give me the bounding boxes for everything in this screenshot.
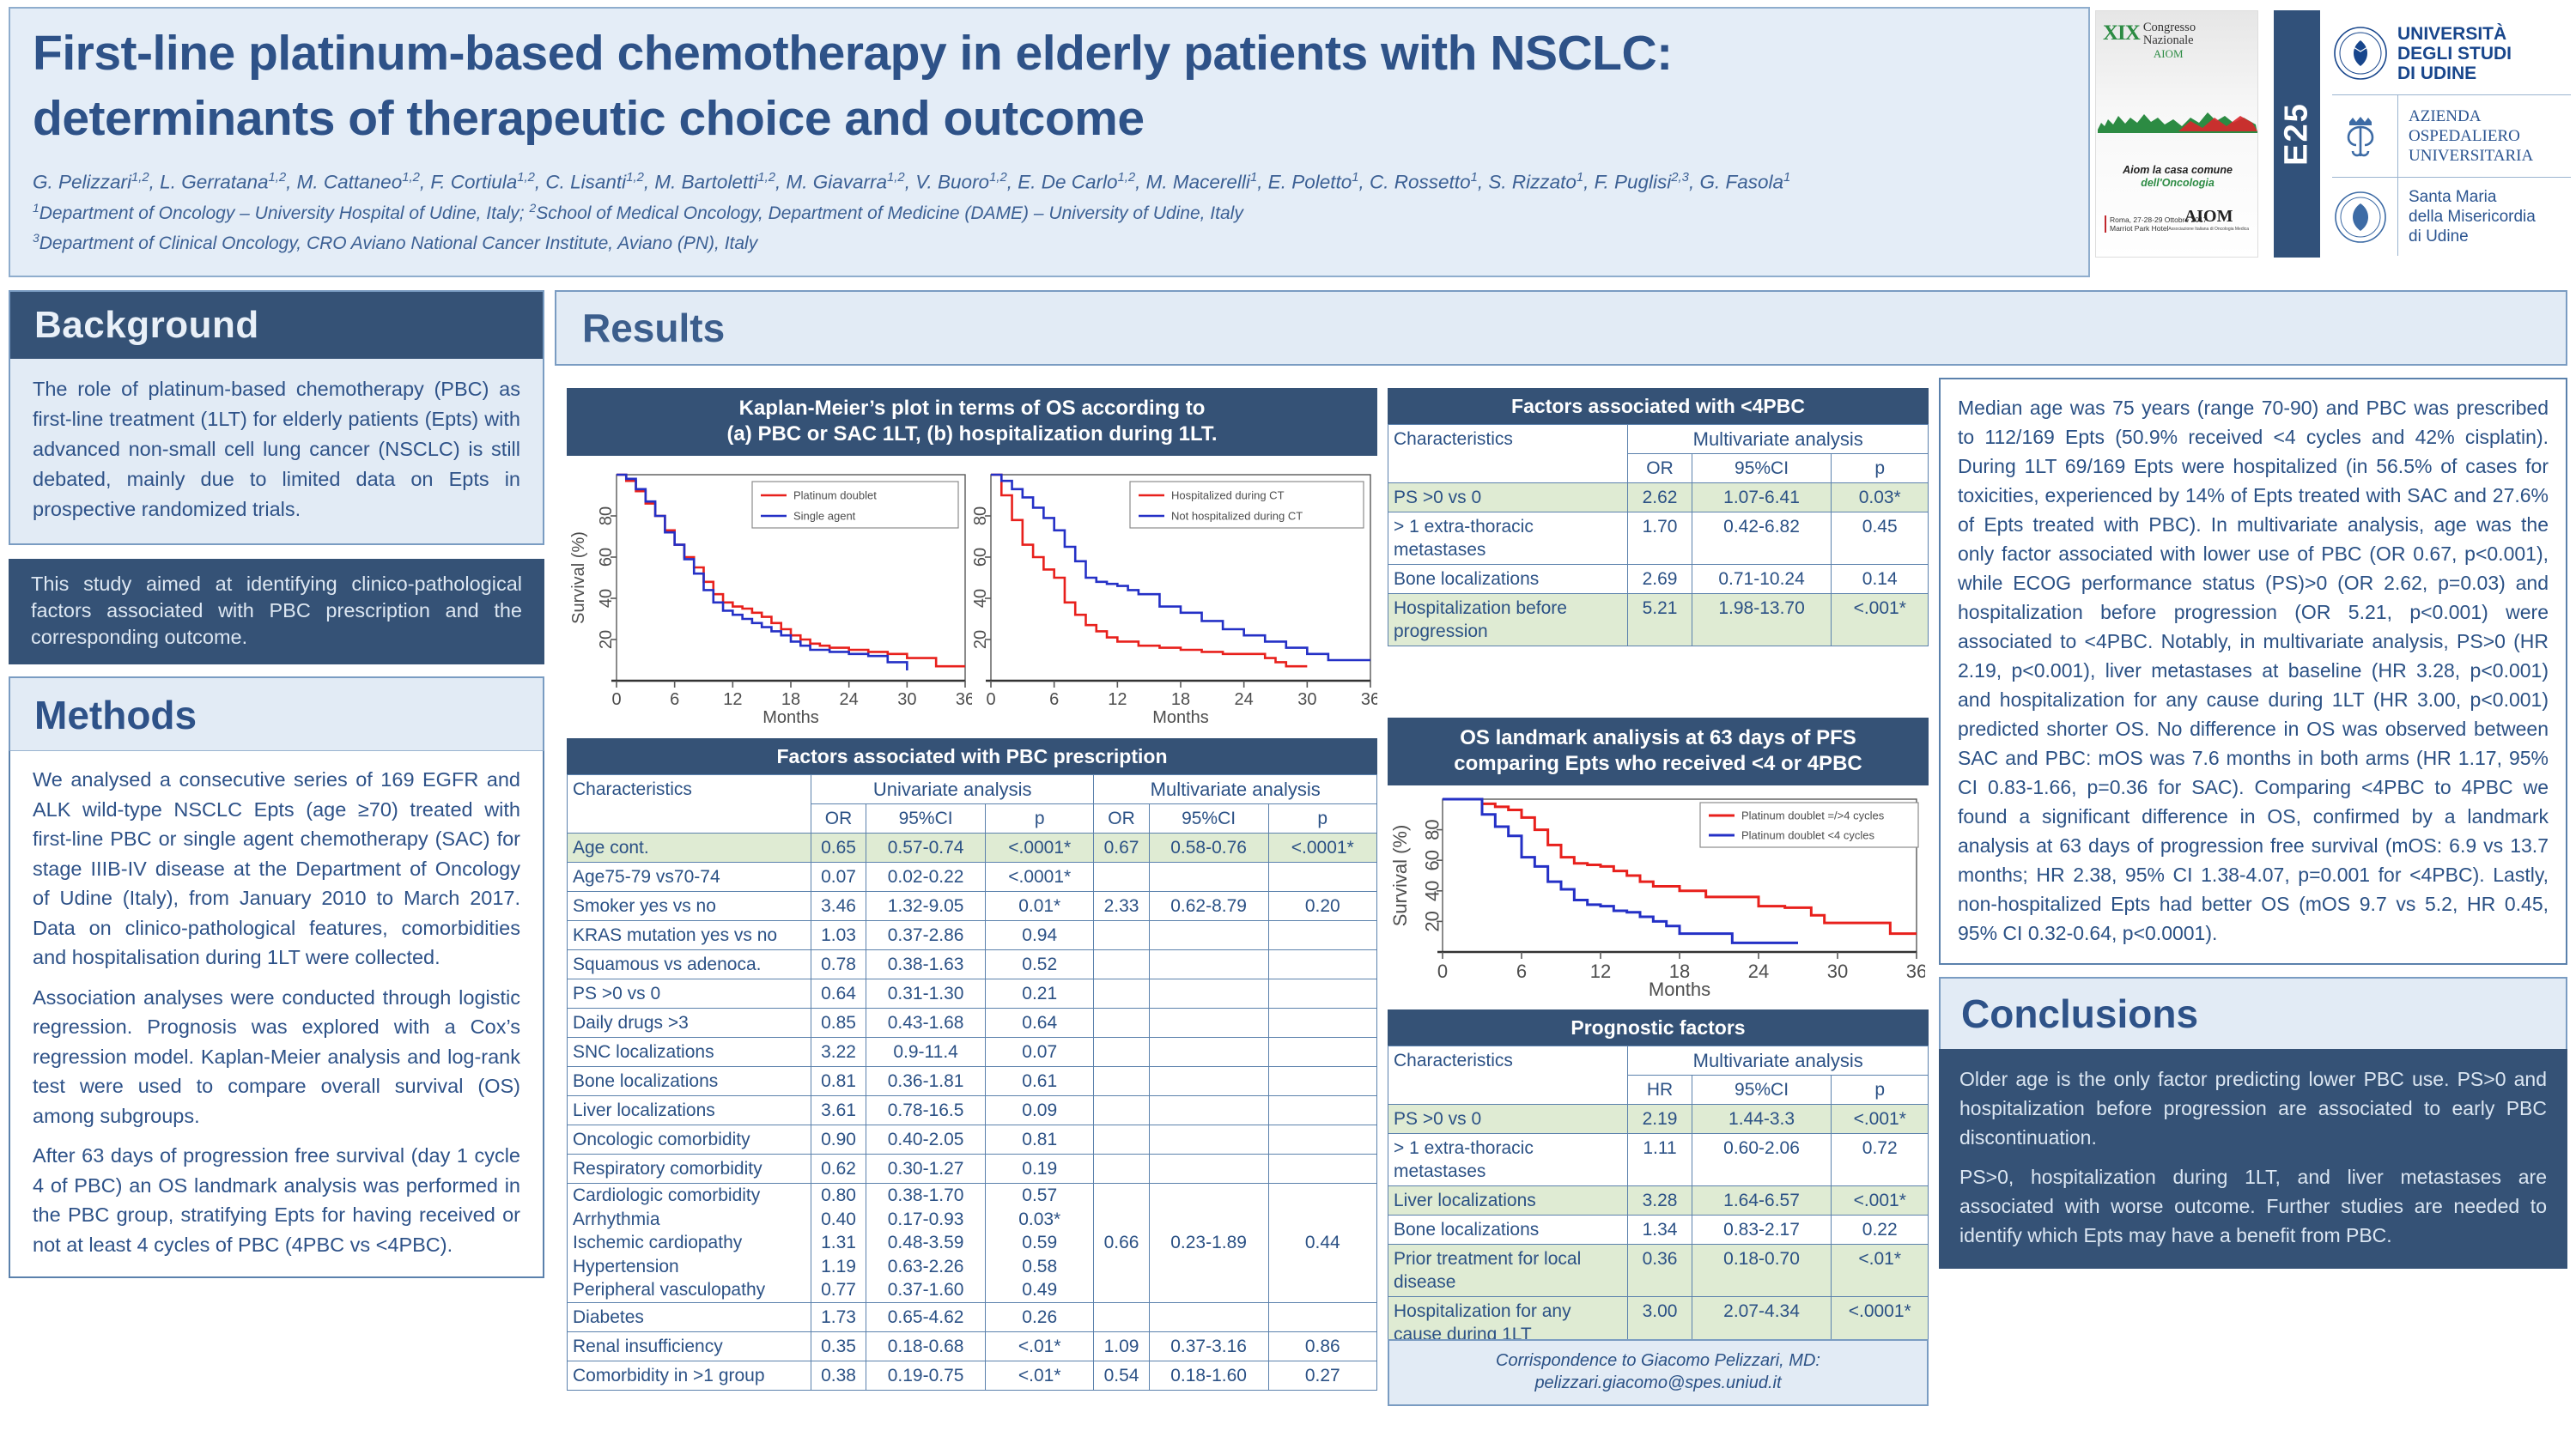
- row-value: [1268, 1125, 1376, 1155]
- row-value: 0.45: [1832, 512, 1929, 565]
- congress-logo: XIX Congresso Nazionale AIOM Aiom la cas…: [2095, 10, 2258, 258]
- row-value: 1.07-6.41: [1692, 483, 1832, 512]
- row-value: 0.37-3.16: [1149, 1331, 1268, 1361]
- row-value: 0.58: [986, 1255, 1094, 1279]
- chart-os-landmark-4pbc: 20406080061218243036MonthsSurvival (%)Pl…: [1388, 791, 1925, 998]
- row-value: 0.71-10.24: [1692, 565, 1832, 594]
- row-label: Hypertension: [568, 1255, 811, 1279]
- row-value: [1094, 921, 1149, 950]
- row-value: [1094, 1038, 1149, 1067]
- svg-text:Months: Months: [1152, 708, 1209, 725]
- row-value: 0.78-16.5: [866, 1096, 986, 1125]
- svg-text:Platinum doublet =/>4 cycles: Platinum doublet =/>4 cycles: [1741, 809, 1885, 822]
- svg-text:36: 36: [1361, 690, 1377, 709]
- row-value: 3.46: [811, 892, 866, 921]
- col-subheader-95ci-1: 95%CI: [1692, 1076, 1832, 1105]
- title-line-1: First-line platinum-based chemotherapy i…: [33, 21, 2066, 86]
- row-value: 3.28: [1628, 1186, 1692, 1216]
- row-label: Squamous vs adenoca.: [568, 950, 811, 979]
- row-value: [1149, 1096, 1268, 1125]
- table-row: > 1 extra-thoracic metastases1.110.60-2.…: [1388, 1134, 1929, 1186]
- row-value: 0.54: [1094, 1361, 1149, 1390]
- row-value: 0.49: [986, 1278, 1094, 1302]
- table-row: Hospitalization before progression5.211.…: [1388, 594, 1929, 646]
- svg-text:18: 18: [781, 690, 800, 709]
- table-row: SNC localizations3.220.9-11.40.07: [568, 1038, 1377, 1067]
- row-value: 0.26: [986, 1302, 1094, 1331]
- col-subheader-95ci-4: 95%CI: [1149, 804, 1268, 834]
- svg-text:20: 20: [1422, 911, 1443, 931]
- table-row: PS >0 vs 02.621.07-6.410.03*: [1388, 483, 1929, 512]
- table-row: Prior treatment for local disease0.360.1…: [1388, 1245, 1929, 1297]
- row-label: Age75-79 vs70-74: [568, 863, 811, 892]
- row-value: 0.57: [986, 1184, 1094, 1208]
- pbc-prescription-table-wrap: Factors associated with PBC prescription…: [567, 738, 1377, 1391]
- correspondence-email[interactable]: pelizzari.giacomo@spes.uniud.it: [1394, 1372, 1922, 1394]
- row-value: [1149, 1067, 1268, 1096]
- col-group-multivariate: Multivariate analysis: [1628, 425, 1929, 454]
- svg-text:30: 30: [897, 690, 916, 709]
- row-value: 1.44-3.3: [1692, 1105, 1832, 1134]
- col-group-univariate: Univariate analysis: [811, 775, 1094, 804]
- row-value: 3.61: [811, 1096, 866, 1125]
- svg-text:0: 0: [986, 690, 995, 709]
- poster-root: First-line platinum-based chemotherapy i…: [0, 0, 2576, 1449]
- svg-text:6: 6: [670, 690, 679, 709]
- logo-azienda-ospedaliero-universitaria: AZIENDA OSPEDALIERO UNIVERSITARIA: [2332, 94, 2571, 177]
- methods-paragraph: After 63 days of progression free surviv…: [33, 1141, 520, 1259]
- col-subheader-or-0: OR: [811, 804, 866, 834]
- affiliation-line-2: 3Department of Clinical Oncology, CRO Av…: [33, 226, 2066, 256]
- logo-santa-maria-della-misericordia: Santa Maria della Misericordia di Udine: [2332, 177, 2571, 256]
- row-value: 2.69: [1628, 565, 1692, 594]
- logo-text: Santa Maria della Misericordia di Udine: [2409, 187, 2536, 246]
- row-value: 0.38: [811, 1361, 866, 1390]
- row-value: 0.03*: [986, 1208, 1094, 1232]
- table-row: Renal insufficiency0.350.18-0.68<.01*1.0…: [568, 1331, 1377, 1361]
- row-value: 0.48-3.59: [866, 1231, 986, 1255]
- table-row: Age cont.0.650.57-0.74<.0001*0.670.58-0.…: [568, 834, 1377, 863]
- row-value: [1268, 1155, 1376, 1184]
- svg-text:18: 18: [1171, 690, 1190, 709]
- university-seal-icon: [2332, 189, 2389, 246]
- row-value: 0.22: [1832, 1216, 1929, 1245]
- background-text: The role of platinum-based chemotherapy …: [10, 359, 543, 543]
- row-value: 0.66: [1094, 1184, 1149, 1303]
- table-row: Cardiologic comorbidity0.800.38-1.700.57…: [568, 1184, 1377, 1208]
- row-value: 0.20: [1268, 892, 1376, 921]
- svg-text:Platinum doublet <4 cycles: Platinum doublet <4 cycles: [1741, 829, 1875, 842]
- factors-4pbc-table: Characteristics Multivariate analysis OR…: [1388, 424, 1929, 646]
- row-value: [1149, 863, 1268, 892]
- table-caption: Prognostic factors: [1388, 1009, 1929, 1046]
- row-value: 2.62: [1628, 483, 1692, 512]
- logo-universita-degli-studi-di-udine: UNIVERSITÀ DEGLI STUDI DI UDINE: [2332, 12, 2571, 94]
- col-subheader-or-0: OR: [1628, 454, 1692, 483]
- row-value: 1.64-6.57: [1692, 1186, 1832, 1216]
- svg-text:Months: Months: [762, 708, 819, 725]
- svg-text:0: 0: [1437, 961, 1448, 982]
- row-value: 1.31: [811, 1231, 866, 1255]
- row-value: 0.38-1.70: [866, 1184, 986, 1208]
- affiliation-line-1: 1Department of Oncology – University Hos…: [33, 196, 2066, 226]
- svg-text:24: 24: [1235, 690, 1254, 709]
- row-label: Age cont.: [568, 834, 811, 863]
- row-value: 0.44: [1268, 1184, 1376, 1303]
- row-value: 0.62-8.79: [1149, 892, 1268, 921]
- row-value: 0.19-0.75: [866, 1361, 986, 1390]
- row-value: 0.07: [811, 863, 866, 892]
- row-value: 1.11: [1628, 1134, 1692, 1186]
- row-value: 0.94: [986, 921, 1094, 950]
- svg-text:40: 40: [597, 589, 616, 608]
- svg-text:Platinum doublet: Platinum doublet: [793, 489, 877, 502]
- row-value: 0.52: [986, 950, 1094, 979]
- row-value: 0.18-0.70: [1692, 1245, 1832, 1297]
- row-label: PS >0 vs 0: [568, 979, 811, 1009]
- landmark-caption: OS landmark analiysis at 63 days of PFS …: [1388, 718, 1929, 785]
- svg-text:60: 60: [1422, 850, 1443, 870]
- row-value: [1094, 1125, 1149, 1155]
- row-label: Daily drugs >3: [568, 1009, 811, 1038]
- methods-paragraph: We analysed a consecutive series of 169 …: [33, 765, 520, 973]
- row-value: 0.83-2.17: [1692, 1216, 1832, 1245]
- svg-text:12: 12: [723, 690, 742, 709]
- row-value: 5.21: [1628, 594, 1692, 646]
- row-value: 0.64: [811, 979, 866, 1009]
- row-value: [1149, 1125, 1268, 1155]
- row-label: Smoker yes vs no: [568, 892, 811, 921]
- prognostic-factors-table-wrap: Prognostic factors Characteristics Multi…: [1388, 1009, 1929, 1349]
- conclusions-text: Older age is the only factor predicting …: [1939, 1049, 2567, 1269]
- row-value: 0.30-1.27: [866, 1155, 986, 1184]
- row-value: [1094, 1096, 1149, 1125]
- row-value: [1268, 1096, 1376, 1125]
- row-value: 1.32-9.05: [866, 892, 986, 921]
- row-value: [1268, 979, 1376, 1009]
- svg-text:0: 0: [611, 690, 621, 709]
- study-aim-box: This study aimed at identifying clinico-…: [9, 559, 544, 664]
- row-label: Peripheral vasculopathy: [568, 1278, 811, 1302]
- row-value: 0.67: [1094, 834, 1149, 863]
- svg-text:30: 30: [1827, 961, 1848, 982]
- svg-text:30: 30: [1297, 690, 1316, 709]
- row-value: 1.98-13.70: [1692, 594, 1832, 646]
- conclusions-paragraph: Older age is the only factor predicting …: [1959, 1064, 2547, 1152]
- table-row: Liver localizations3.610.78-16.50.09: [568, 1096, 1377, 1125]
- prognostic-factors-table: Characteristics Multivariate analysis HR…: [1388, 1046, 1929, 1349]
- row-value: [1094, 1067, 1149, 1096]
- row-value: [1094, 979, 1149, 1009]
- row-label: Liver localizations: [568, 1096, 811, 1125]
- row-value: 0.36-1.81: [866, 1067, 986, 1096]
- row-value: 0.40: [811, 1208, 866, 1232]
- col-group-multivariate: Multivariate analysis: [1628, 1046, 1929, 1076]
- row-value: 0.77: [811, 1278, 866, 1302]
- row-label: Respiratory comorbidity: [568, 1155, 811, 1184]
- row-value: <.0001*: [986, 834, 1094, 863]
- svg-text:20: 20: [972, 630, 990, 649]
- row-label: Prior treatment for local disease: [1388, 1245, 1628, 1297]
- row-label: Ischemic cardiopathy: [568, 1231, 811, 1255]
- methods-paragraph: Association analyses were conducted thro…: [33, 983, 520, 1131]
- svg-text:12: 12: [1590, 961, 1611, 982]
- title-line-2: determinants of therapeutic choice and o…: [33, 86, 2066, 151]
- row-value: 0.72: [1832, 1134, 1929, 1186]
- congress-roman-numeral: XIX: [2103, 21, 2140, 45]
- kaplan-meier-panel: Kaplan-Meier’s plot in terms of OS accor…: [567, 388, 1377, 725]
- svg-text:6: 6: [1516, 961, 1527, 982]
- pbc-prescription-table: Characteristics Univariate analysis Mult…: [567, 774, 1377, 1391]
- row-value: 0.03*: [1832, 483, 1929, 512]
- svg-text:36: 36: [956, 690, 972, 709]
- row-value: 1.03: [811, 921, 866, 950]
- row-value: 0.65: [811, 834, 866, 863]
- row-label: Bone localizations: [1388, 565, 1628, 594]
- methods-heading: Methods: [9, 676, 544, 750]
- logo-text: AZIENDA OSPEDALIERO UNIVERSITARIA: [2409, 106, 2533, 166]
- row-value: 1.70: [1628, 512, 1692, 565]
- row-value: 0.37-1.60: [866, 1278, 986, 1302]
- svg-text:80: 80: [1422, 819, 1443, 840]
- row-value: [1268, 1067, 1376, 1096]
- col-characteristics: Characteristics: [568, 775, 811, 834]
- row-value: 0.27: [1268, 1361, 1376, 1390]
- svg-text:24: 24: [1748, 961, 1769, 982]
- row-value: [1149, 1038, 1268, 1067]
- svg-text:Survival (%): Survival (%): [1389, 825, 1411, 927]
- results-heading: Results: [555, 290, 2567, 366]
- col-group-multivariate: Multivariate analysis: [1094, 775, 1377, 804]
- row-value: 0.63-2.26: [866, 1255, 986, 1279]
- row-label: KRAS mutation yes vs no: [568, 921, 811, 950]
- kaplan-meier-caption: Kaplan-Meier’s plot in terms of OS accor…: [567, 388, 1377, 456]
- row-value: 0.17-0.93: [866, 1208, 986, 1232]
- svg-text:20: 20: [597, 630, 616, 649]
- table-caption: Factors associated with PBC prescription: [567, 738, 1377, 774]
- row-value: 0.42-6.82: [1692, 512, 1832, 565]
- row-value: 0.01*: [986, 892, 1094, 921]
- row-value: [1149, 1155, 1268, 1184]
- row-value: <.001*: [1832, 1186, 1929, 1216]
- table-row: Bone localizations2.690.71-10.240.14: [1388, 565, 1929, 594]
- table-row: PS >0 vs 02.191.44-3.3<.001*: [1388, 1105, 1929, 1134]
- svg-text:24: 24: [840, 690, 859, 709]
- table-row: Comorbidity in >1 group0.380.19-0.75<.01…: [568, 1361, 1377, 1390]
- row-label: SNC localizations: [568, 1038, 811, 1067]
- row-value: [1268, 1038, 1376, 1067]
- table-row: KRAS mutation yes vs no1.030.37-2.860.94: [568, 921, 1377, 950]
- row-value: 0.36: [1628, 1245, 1692, 1297]
- row-value: 0.35: [811, 1331, 866, 1361]
- row-label: PS >0 vs 0: [1388, 483, 1628, 512]
- correspondence-box: Corrispondence to Giacomo Pelizzari, MD:…: [1388, 1339, 1929, 1406]
- row-value: 0.07: [986, 1038, 1094, 1067]
- row-value: 2.19: [1628, 1105, 1692, 1134]
- discussion-column: Median age was 75 years (range 70-90) an…: [1939, 378, 2567, 1269]
- row-value: [1094, 1155, 1149, 1184]
- table-row: Squamous vs adenoca.0.780.38-1.630.52: [568, 950, 1377, 979]
- row-value: 0.64: [986, 1009, 1094, 1038]
- table-row: Age75-79 vs70-740.070.02-0.22<.0001*: [568, 863, 1377, 892]
- congress-line-3: AIOM: [2154, 47, 2196, 60]
- row-value: <.0001*: [986, 863, 1094, 892]
- row-value: 0.65-4.62: [866, 1302, 986, 1331]
- hospital-crown-icon: [2332, 108, 2389, 165]
- row-value: 3.22: [811, 1038, 866, 1067]
- row-value: 0.18-0.68: [866, 1331, 986, 1361]
- row-label: Arrhythmia: [568, 1208, 811, 1232]
- table-row: Daily drugs >30.850.43-1.680.64: [568, 1009, 1377, 1038]
- row-label: Bone localizations: [1388, 1216, 1628, 1245]
- row-value: 0.14: [1832, 565, 1929, 594]
- row-value: 0.60-2.06: [1692, 1134, 1832, 1186]
- row-value: [1149, 1009, 1268, 1038]
- svg-text:60: 60: [597, 548, 616, 567]
- left-column: Background The role of platinum-based ch…: [9, 290, 544, 1278]
- table-row: PS >0 vs 00.640.31-1.300.21: [568, 979, 1377, 1009]
- col-subheader-or-3: OR: [1094, 804, 1149, 834]
- row-value: 0.37-2.86: [866, 921, 986, 950]
- row-label: Diabetes: [568, 1302, 811, 1331]
- row-value: 0.02-0.22: [866, 863, 986, 892]
- svg-text:36: 36: [1906, 961, 1925, 982]
- col-characteristics: Characteristics: [1388, 1046, 1628, 1105]
- col-subheader-95ci-1: 95%CI: [866, 804, 986, 834]
- row-value: [1094, 1302, 1149, 1331]
- divider: [2397, 95, 2398, 177]
- congress-line-1: Congresso: [2143, 21, 2196, 34]
- svg-text:80: 80: [597, 506, 616, 525]
- row-value: 0.86: [1268, 1331, 1376, 1361]
- row-value: [1094, 950, 1149, 979]
- row-value: <.0001*: [1268, 834, 1376, 863]
- divider: [2397, 178, 2398, 256]
- row-value: 1.73: [811, 1302, 866, 1331]
- row-label: Renal insufficiency: [568, 1331, 811, 1361]
- row-value: 0.58-0.76: [1149, 834, 1268, 863]
- row-value: 0.18-1.60: [1149, 1361, 1268, 1390]
- row-label: Oncologic comorbidity: [568, 1125, 811, 1155]
- conclusions-heading: Conclusions: [1939, 977, 2567, 1049]
- table-row: Respiratory comorbidity0.620.30-1.270.19: [568, 1155, 1377, 1184]
- row-value: 0.40-2.05: [866, 1125, 986, 1155]
- row-value: [1094, 1009, 1149, 1038]
- svg-text:Months: Months: [1649, 979, 1710, 998]
- methods-text: We analysed a consecutive series of 169 …: [9, 750, 544, 1278]
- row-value: [1268, 1302, 1376, 1331]
- row-value: <.001*: [1832, 1105, 1929, 1134]
- row-label: > 1 extra-thoracic metastases: [1388, 512, 1628, 565]
- col-subheader-p-2: p: [986, 804, 1094, 834]
- row-value: [1268, 921, 1376, 950]
- row-value: 0.31-1.30: [866, 979, 986, 1009]
- row-value: 0.61: [986, 1067, 1094, 1096]
- col-subheader-95ci-1: 95%CI: [1692, 454, 1832, 483]
- table-row: Bone localizations1.340.83-2.170.22: [1388, 1216, 1929, 1245]
- row-value: [1149, 1302, 1268, 1331]
- row-label: Liver localizations: [1388, 1186, 1628, 1216]
- row-value: [1268, 950, 1376, 979]
- col-subheader-p-2: p: [1832, 1076, 1929, 1105]
- svg-text:Hospitalized during CT: Hospitalized during CT: [1171, 489, 1285, 502]
- svg-text:80: 80: [972, 506, 990, 525]
- table-row: Oncologic comorbidity0.900.40-2.050.81: [568, 1125, 1377, 1155]
- svg-text:6: 6: [1049, 690, 1059, 709]
- svg-text:40: 40: [972, 589, 990, 608]
- col-subheader-p-2: p: [1832, 454, 1929, 483]
- university-seal-icon: [2332, 25, 2389, 82]
- row-value: 0.09: [986, 1096, 1094, 1125]
- row-value: 0.21: [986, 979, 1094, 1009]
- aiom-logo-icon: AIOM Associazione Italiana di Oncologia …: [2168, 207, 2249, 232]
- correspondence-line-1: Corrispondence to Giacomo Pelizzari, MD:: [1394, 1349, 1922, 1372]
- svg-text:12: 12: [1108, 690, 1127, 709]
- logo-text: UNIVERSITÀ DEGLI STUDI DI UDINE: [2397, 24, 2512, 83]
- landmark-panel: OS landmark analiysis at 63 days of PFS …: [1388, 718, 1929, 1003]
- col-subheader-p-5: p: [1268, 804, 1376, 834]
- row-label: Bone localizations: [568, 1067, 811, 1096]
- table-row: Bone localizations0.810.36-1.810.61: [568, 1067, 1377, 1096]
- svg-text:40: 40: [1422, 881, 1443, 901]
- row-value: 0.80: [811, 1184, 866, 1208]
- row-value: 0.62: [811, 1155, 866, 1184]
- row-value: [1268, 1009, 1376, 1038]
- row-value: 2.33: [1094, 892, 1149, 921]
- table-caption: Factors associated with <4PBC: [1388, 388, 1929, 424]
- row-value: 0.43-1.68: [866, 1009, 986, 1038]
- row-value: <.01*: [986, 1361, 1094, 1390]
- congress-line-2: Nazionale: [2143, 34, 2196, 47]
- row-value: [1094, 863, 1149, 892]
- congress-tagline: Aiom la casa comune dell'Oncologia: [2096, 164, 2258, 190]
- row-value: 0.90: [811, 1125, 866, 1155]
- svg-text:Survival (%): Survival (%): [569, 531, 588, 624]
- table-row: Liver localizations3.281.64-6.57<.001*: [1388, 1186, 1929, 1216]
- factors-4pbc-table-wrap: Factors associated with <4PBC Characteri…: [1388, 388, 1929, 646]
- row-value: 0.59: [986, 1231, 1094, 1255]
- discussion-text: Median age was 75 years (range 70-90) an…: [1939, 378, 2567, 965]
- row-value: <.01*: [986, 1331, 1094, 1361]
- background-heading: Background: [10, 292, 543, 359]
- row-value: <.001*: [1832, 594, 1929, 646]
- background-panel: Background The role of platinum-based ch…: [9, 290, 544, 545]
- row-label: Hospitalization before progression: [1388, 594, 1628, 646]
- row-label: Comorbidity in >1 group: [568, 1361, 811, 1390]
- chart-km-os-hospitalization: 20406080061218243036MonthsHospitalized d…: [972, 466, 1377, 725]
- conclusions-paragraph: PS>0, hospitalization during 1LT, and li…: [1959, 1162, 2547, 1250]
- rome-skyline-icon: [2096, 100, 2258, 135]
- svg-text:Single agent: Single agent: [793, 510, 856, 523]
- chart-km-os-pbc-vs-sac: 20406080061218243036MonthsSurvival (%)Pl…: [567, 466, 972, 725]
- row-value: 0.57-0.74: [866, 834, 986, 863]
- table-row: Diabetes1.730.65-4.620.26: [568, 1302, 1377, 1331]
- poster-header: First-line platinum-based chemotherapy i…: [9, 7, 2090, 277]
- row-value: 1.19: [811, 1255, 866, 1279]
- row-value: 0.19: [986, 1155, 1094, 1184]
- row-label: Cardiologic comorbidity: [568, 1184, 811, 1208]
- row-label: > 1 extra-thoracic metastases: [1388, 1134, 1628, 1186]
- row-label: PS >0 vs 0: [1388, 1105, 1628, 1134]
- institution-logos: UNIVERSITÀ DEGLI STUDI DI UDINE AZIENDA …: [2332, 12, 2571, 258]
- row-value: 0.23-1.89: [1149, 1184, 1268, 1303]
- row-value: [1149, 921, 1268, 950]
- row-value: 0.78: [811, 950, 866, 979]
- row-value: 0.81: [811, 1067, 866, 1096]
- row-value: [1149, 979, 1268, 1009]
- author-list: G. Pelizzari1,2, L. Gerratana1,2, M. Cat…: [33, 165, 2066, 196]
- row-value: 1.09: [1094, 1331, 1149, 1361]
